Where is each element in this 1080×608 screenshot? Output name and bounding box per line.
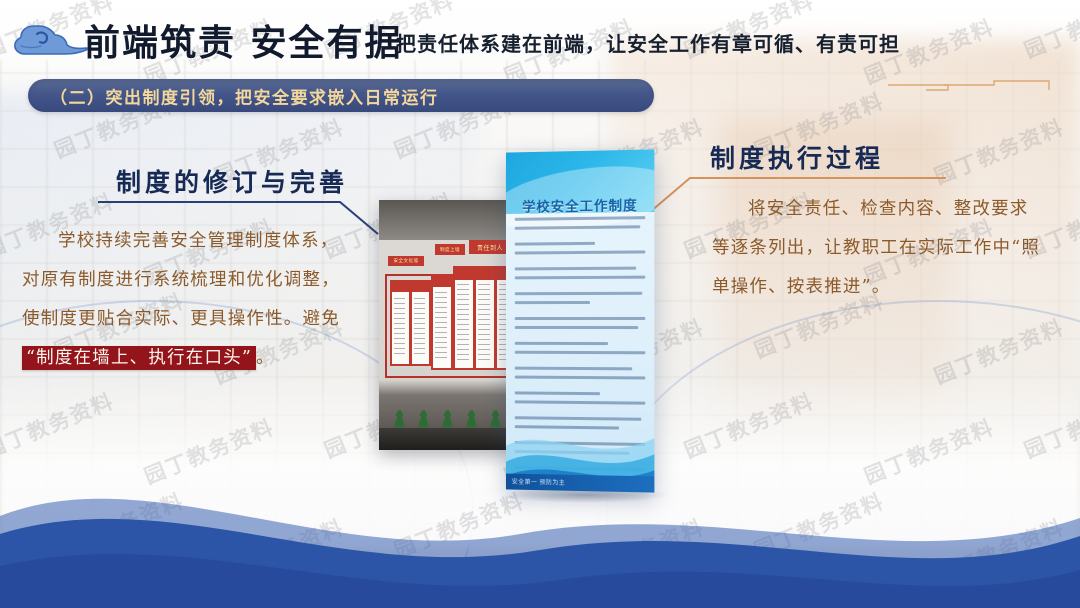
photo-panel-line (394, 353, 405, 354)
photo-panel-line (435, 352, 447, 353)
board-body-line (515, 301, 590, 304)
photo-banner-left: 安全文化墙 (388, 256, 424, 266)
photo-ceiling (379, 200, 519, 240)
photo-panel-line (457, 354, 469, 355)
photo-banner-mid: 制度上墙 (435, 244, 465, 255)
photo-panel-line (457, 314, 469, 315)
board-body-line (515, 276, 646, 280)
photo-red-rail-3 (385, 274, 387, 378)
photo-panel-line (414, 348, 425, 349)
bottom-blue-wave (0, 438, 1080, 608)
photo-panel-line (435, 292, 447, 293)
board-body-line (515, 376, 646, 380)
right-heading: 制度执行过程 (710, 139, 884, 175)
photo-panel-line (457, 289, 469, 290)
photo-panel-4 (453, 266, 475, 370)
photo-panel-line (478, 359, 490, 360)
section-ribbon-label: （二）突出制度引领，把安全要求嵌入日常运行 (50, 83, 439, 108)
photo-panel-line (478, 339, 490, 340)
photo-panel-line (457, 359, 469, 360)
photo-panel-line (394, 343, 405, 344)
photo-panel-line (414, 353, 425, 354)
photo-panel-line (478, 319, 490, 320)
photo-panel-3 (431, 274, 453, 370)
photo-panel-line (414, 338, 425, 339)
auspicious-cloud-icon (12, 20, 90, 66)
photo-panel-line (435, 297, 447, 298)
photo-panel-line (478, 284, 490, 285)
photo-panel-line (414, 343, 425, 344)
photo-panel-line (478, 354, 490, 355)
board-body-line (515, 367, 632, 371)
left-body-before: 学校持续完善安全管理制度体系，对原有制度进行系统梳理和优化调整，使制度更贴合实际… (22, 231, 340, 329)
photo-panel-line (435, 342, 447, 343)
page-subtitle: 把责任体系建在前端，让安全工作有章可循、有责可担 (396, 28, 900, 57)
photo-panel-line (394, 328, 405, 329)
photo-panel-line (457, 319, 469, 320)
photo-panel-line (478, 294, 490, 295)
photo-panel-line (457, 344, 469, 345)
photo-panel-line (478, 324, 490, 325)
board-body-line (515, 400, 646, 404)
photo-panel-line (394, 308, 405, 309)
photo-panel-line (414, 303, 425, 304)
photo-panel-line (394, 348, 405, 349)
photo-panel-line (435, 347, 447, 348)
photo-panel-line (394, 298, 405, 299)
photo-panel-line (435, 312, 447, 313)
photo-panel-line (478, 309, 490, 310)
left-body-highlight: “制度在墙上、执行在口头” (22, 346, 256, 370)
photo-red-rail-2 (385, 376, 513, 378)
board-body-line (515, 391, 601, 395)
board-body-line (515, 225, 640, 229)
board-body-line (515, 250, 646, 254)
board-body-line (515, 342, 609, 345)
photo-panel-line (478, 289, 490, 290)
right-body-text: 将安全责任、检查内容、整改要求等逐条列出，让教职工在实际工作中“照单操作、按表推… (712, 190, 1042, 307)
page-title: 前端筑责 安全有据 (84, 14, 403, 66)
photo-panel-line (414, 318, 425, 319)
photo-panel-line (457, 309, 469, 310)
photo-panel-line (414, 308, 425, 309)
photo-panel-line (394, 338, 405, 339)
photo-panel-line (394, 318, 405, 319)
photo-panel-line (457, 329, 469, 330)
photo-panel-line (435, 322, 447, 323)
photo-panel-line (394, 303, 405, 304)
photo-panel-line (414, 333, 425, 334)
photo-panel-line (435, 302, 447, 303)
photo-panel-line (394, 313, 405, 314)
photo-panel-line (457, 304, 469, 305)
photo-panel-line (414, 298, 425, 299)
board-body-line (515, 317, 646, 320)
photo-panel-line (478, 349, 490, 350)
photo-panel-1 (390, 280, 411, 366)
photo-panel-line (457, 349, 469, 350)
board-title: 学校安全工作制度 (506, 194, 654, 216)
board-body-line (515, 216, 646, 221)
board-body-line (515, 242, 595, 246)
photo-panel-line (435, 357, 447, 358)
board-body-line (515, 267, 636, 271)
photo-panel-line (478, 334, 490, 335)
photo-panel-line (457, 334, 469, 335)
photo-panel-line (478, 329, 490, 330)
photo-panel-line (414, 323, 425, 324)
photo-panel-line (457, 299, 469, 300)
left-body-text: 学校持续完善安全管理制度体系，对原有制度进行系统梳理和优化调整，使制度更贴合实际… (22, 222, 352, 378)
photo-panel-2 (410, 280, 431, 366)
photo-panel-line (435, 307, 447, 308)
photo-panel-line (478, 299, 490, 300)
photo-panel-5 (474, 266, 496, 370)
section-ribbon[interactable]: （二）突出制度引领，把安全要求嵌入日常运行 (28, 79, 654, 112)
photo-panel-line (394, 333, 405, 334)
photo-panel-line (435, 327, 447, 328)
photo-panel-line (435, 317, 447, 318)
photo-panel-line (478, 304, 490, 305)
photo-panel-line (478, 344, 490, 345)
photo-panel-line (435, 337, 447, 338)
photo-panel-line (414, 328, 425, 329)
photo-panel-line (394, 323, 405, 324)
photo-panel-line (457, 284, 469, 285)
slide-root: 园丁教务资料园丁教务资料园丁教务资料园丁教务资料园丁教务资料园丁教务资料园丁教务… (0, 0, 1080, 608)
photo-panel-line (457, 339, 469, 340)
left-body-after: 。 (256, 348, 275, 368)
board-body-line (515, 351, 646, 355)
photo-panel-line (478, 314, 490, 315)
gold-line-ornament (884, 76, 1056, 94)
left-heading: 制度的修订与完善 (116, 163, 348, 199)
photo-banner-right: 责任到人 (469, 240, 511, 254)
board-body-line (515, 292, 643, 295)
board-body-line (515, 326, 639, 329)
photo-panel-line (435, 332, 447, 333)
board-body-gap (515, 310, 646, 317)
photo-panel-line (457, 294, 469, 295)
school-culture-wall-photo: 安全文化墙 制度上墙 责任到人 (379, 200, 519, 450)
photo-panel-line (457, 324, 469, 325)
photo-panel-line (414, 313, 425, 314)
